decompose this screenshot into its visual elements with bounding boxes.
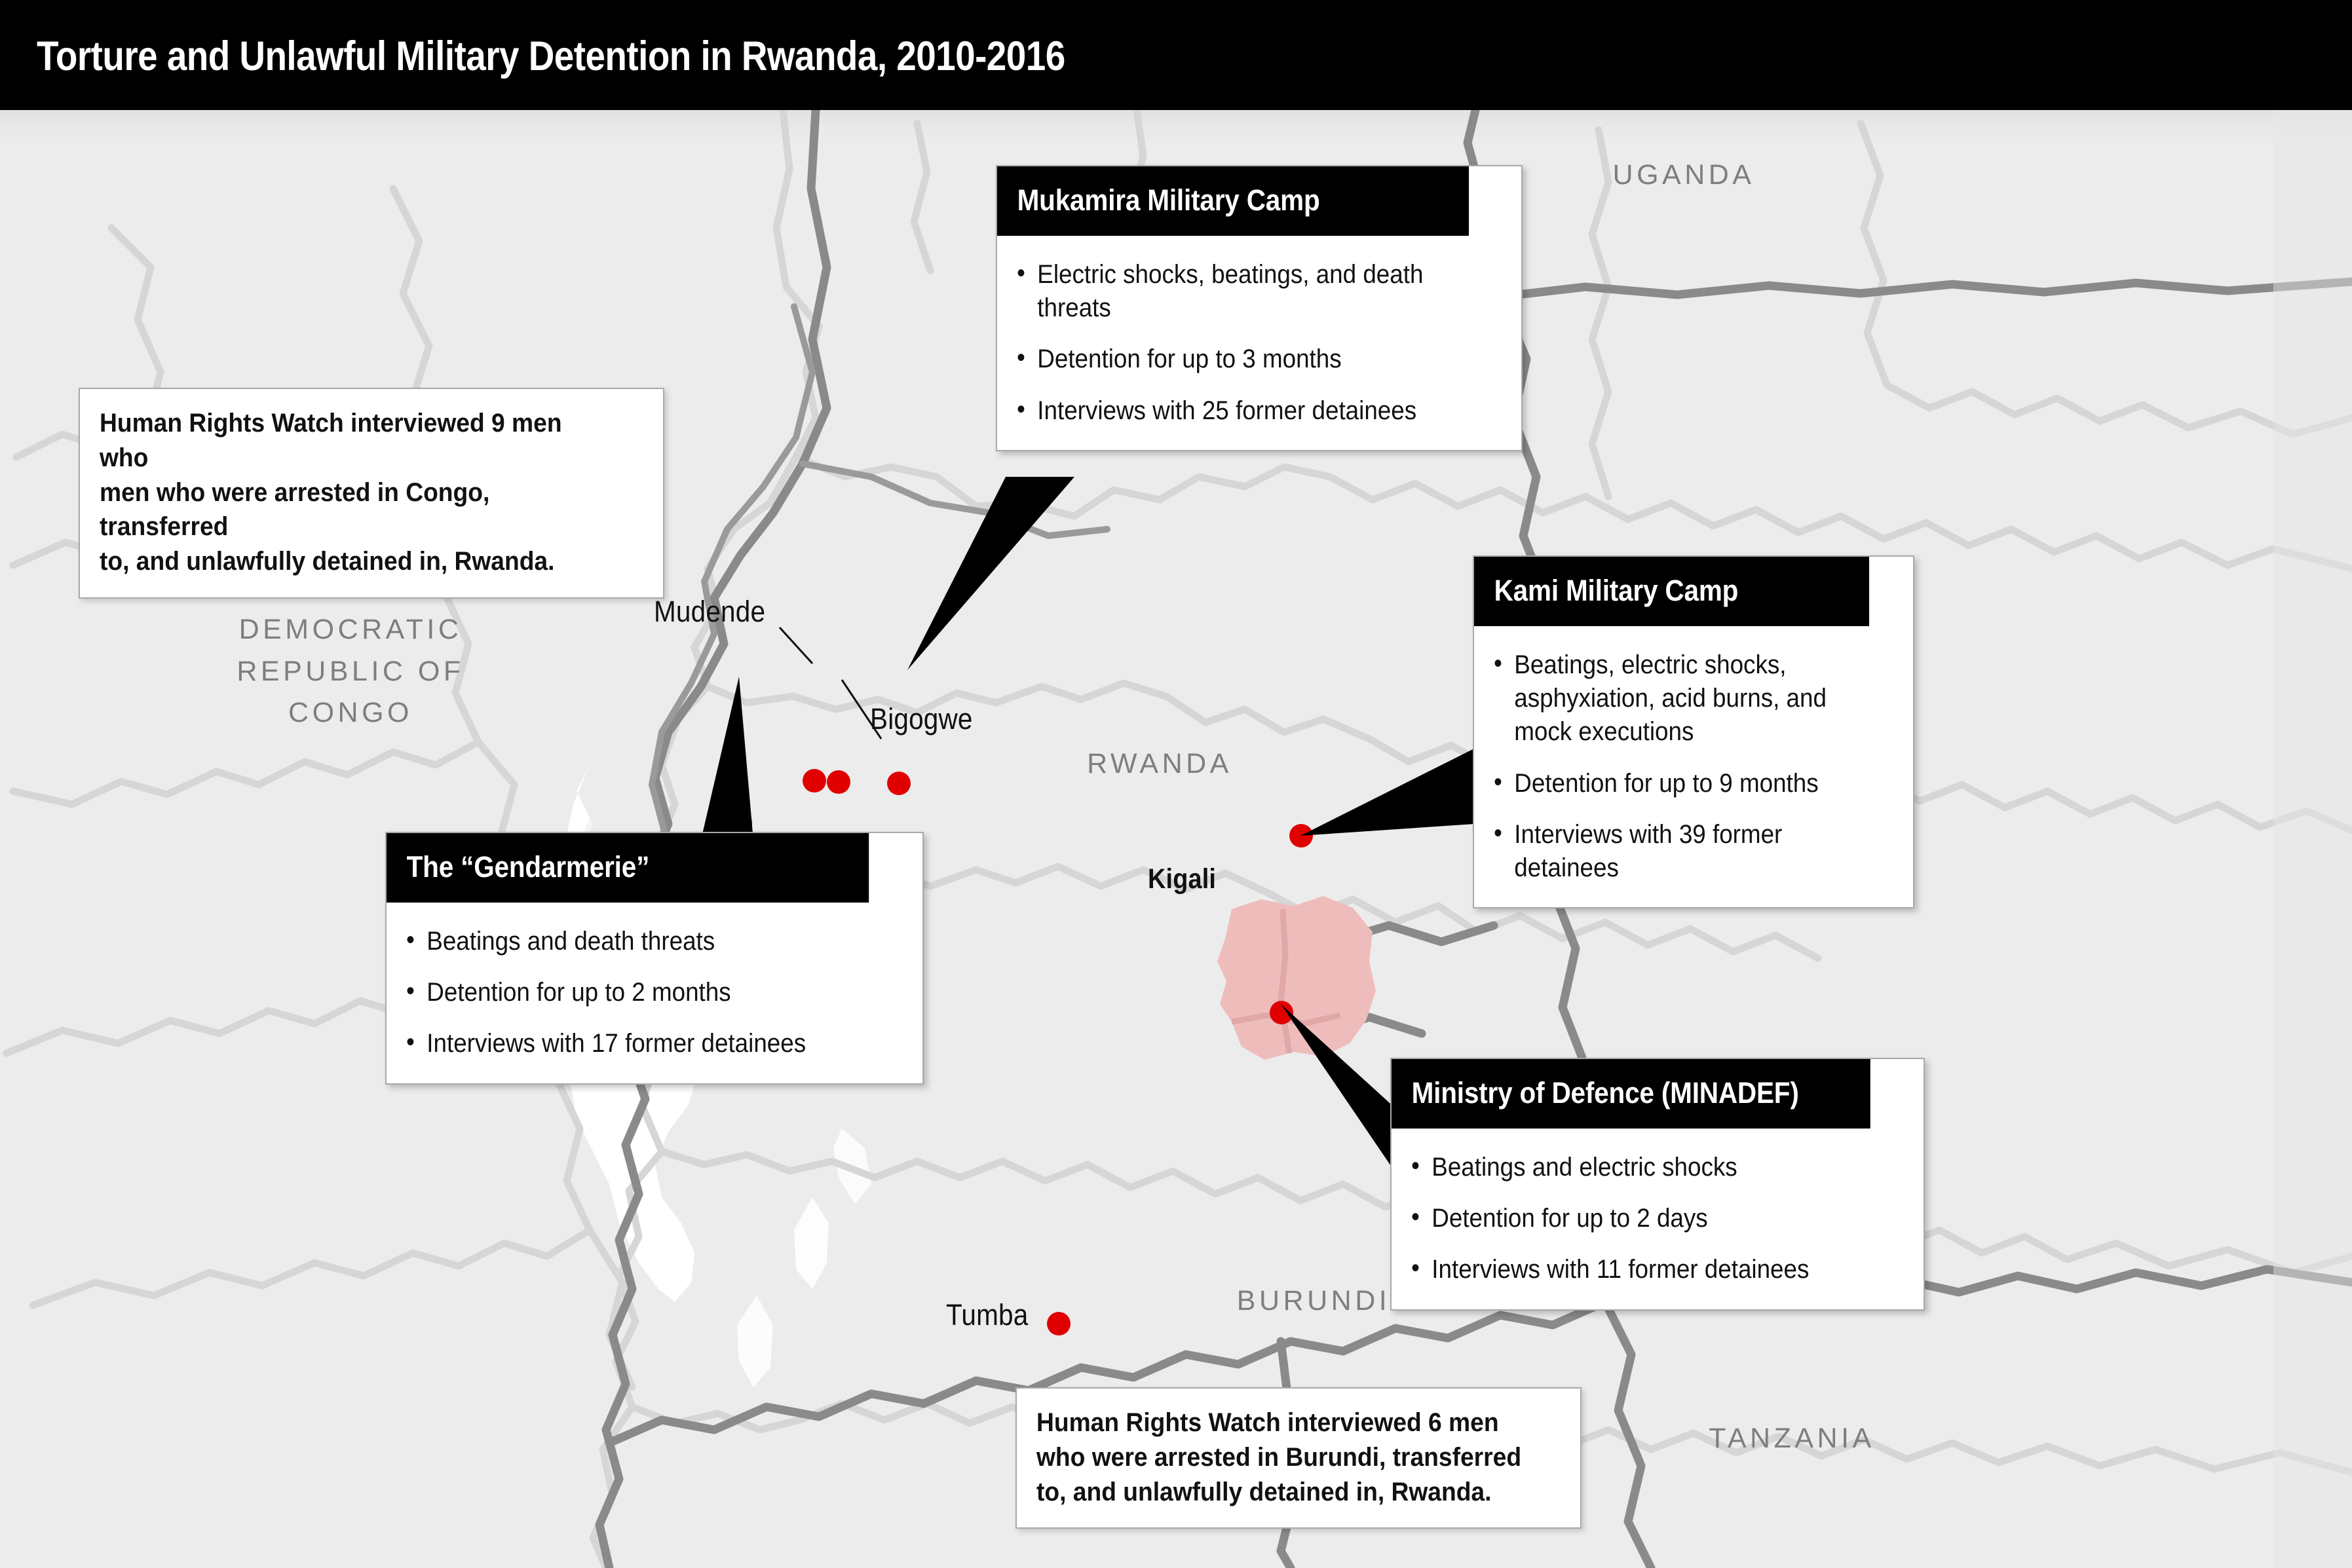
note-congo-line1: Human Rights Watch interviewed 9 men who [100,406,605,476]
edge-shade [2273,110,2352,1568]
infographic-root: Torture and Unlawful Military Detention … [0,0,2352,1568]
marker-mudende-b[interactable] [827,770,850,794]
callout-gendarmerie-bullet-2: Detention for up to 2 months [406,976,861,1009]
note-congo-line2: men who were arrested in Congo, transfer… [100,476,605,545]
callout-minadef-bullet-1: Beatings and electric shocks [1411,1151,1862,1184]
callout-mukamira-bullet-2: Detention for up to 3 months [1017,343,1460,376]
callout-kami-bullet-3: Interviews with 39 former detainees [1494,818,1859,885]
callout-minadef-bullet-2: Detention for up to 2 days [1411,1202,1862,1235]
callout-mukamira-body: Electric shocks, beatings, and death thr… [997,236,1521,450]
city-label-kigali: Kigali [1148,863,1216,895]
callout-gendarmerie-bullet-3: Interviews with 17 former detainees [406,1027,861,1060]
callout-minadef-bullet-3: Interviews with 11 former detainees [1411,1253,1862,1286]
city-label-tumba: Tumba [946,1298,1028,1332]
header-shadow [0,110,2352,149]
note-congo: Human Rights Watch interviewed 9 men who… [79,388,664,599]
callout-minadef-title: Ministry of Defence (MINADEF) [1392,1059,1870,1129]
marker-gendarmerie[interactable] [729,811,752,834]
callout-kami-body: Beatings, electric shocks, asphyxiation,… [1474,626,1913,907]
callout-mukamira-bullet-1: Electric shocks, beatings, and death thr… [1017,258,1460,325]
note-congo-line3: to, and unlawfully detained in, Rwanda. [100,544,605,579]
city-label-mudende: Mudende [654,595,765,629]
callout-minadef[interactable]: Ministry of Defence (MINADEF) Beatings a… [1390,1058,1925,1311]
callout-kami-title: Kami Military Camp [1474,557,1869,626]
callout-gendarmerie[interactable]: The “Gendarmerie” Beatings and death thr… [385,832,924,1085]
callout-mukamira-bullet-3: Interviews with 25 former detainees [1017,394,1460,428]
callout-gendarmerie-body: Beatings and death threats Detention for… [387,903,922,1083]
note-burundi-line1: Human Rights Watch interviewed 6 men [1036,1406,1524,1440]
kigali-province-fill [1217,896,1376,1060]
callout-kami-bullet-2: Detention for up to 9 months [1494,767,1859,800]
marker-kami[interactable] [1289,824,1313,848]
callout-gendarmerie-title: The “Gendarmerie” [387,833,869,903]
marker-minadef[interactable] [1270,1001,1293,1024]
header-bar: Torture and Unlawful Military Detention … [0,0,2352,110]
callout-kami-bullet-1: Beatings, electric shocks, asphyxiation,… [1494,648,1859,749]
marker-tumba[interactable] [1047,1312,1071,1335]
callout-minadef-body: Beatings and electric shocks Detention f… [1392,1129,1924,1309]
note-burundi-line2: who were arrested in Burundi, transferre… [1036,1440,1524,1475]
note-burundi: Human Rights Watch interviewed 6 men who… [1015,1387,1582,1529]
note-burundi-line3: to, and unlawfully detained in, Rwanda. [1036,1475,1524,1510]
callout-mukamira-title: Mukamira Military Camp [997,166,1469,236]
page-title: Torture and Unlawful Military Detention … [37,33,1065,80]
callout-mukamira[interactable]: Mukamira Military Camp Electric shocks, … [996,165,1523,451]
kigali-district [1217,896,1376,1060]
city-label-bigogwe: Bigogwe [870,702,973,736]
callout-kami[interactable]: Kami Military Camp Beatings, electric sh… [1473,555,1914,908]
marker-bigogwe[interactable] [887,772,911,795]
marker-mudende[interactable] [803,769,826,793]
callout-gendarmerie-bullet-1: Beatings and death threats [406,925,861,958]
